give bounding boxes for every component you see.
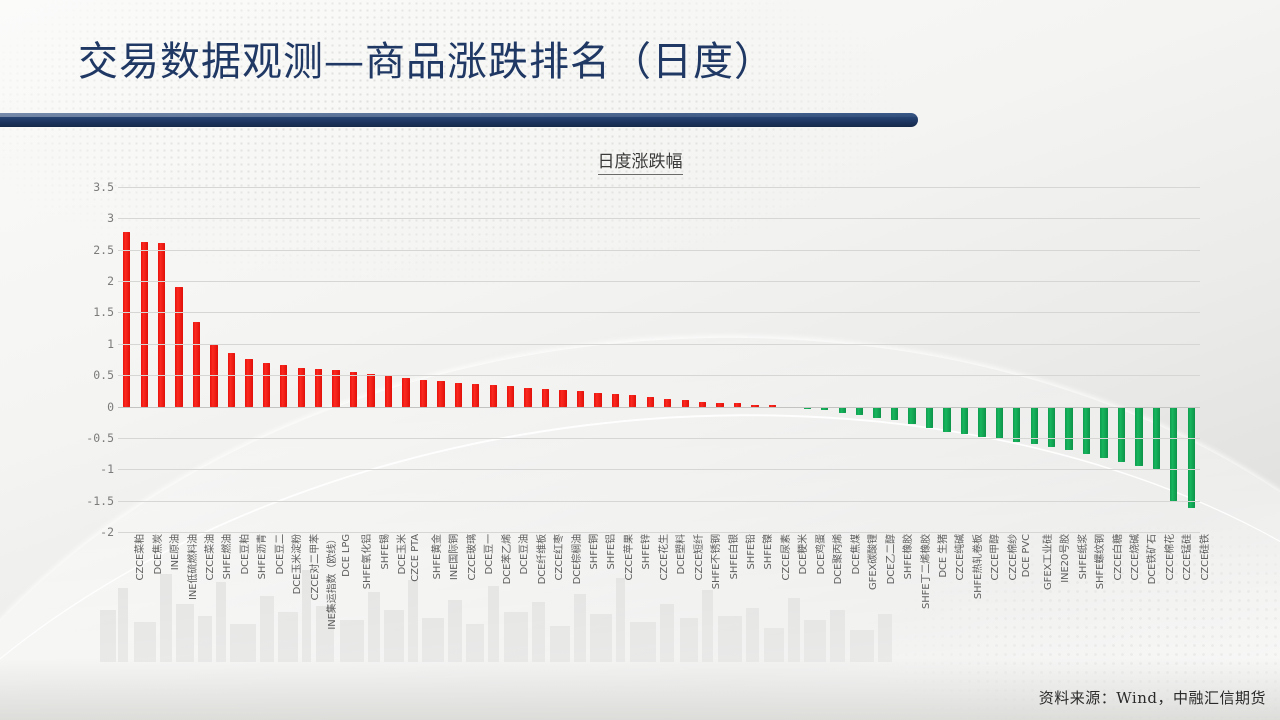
chart-gridline (118, 438, 1200, 439)
source-note: 资料来源：Wind，中融汇信期货 (1039, 687, 1266, 708)
chart-x-tick-label: DCE豆一 (480, 534, 495, 575)
chart-bar (350, 372, 357, 407)
chart-y-tick-label: 0.5 (54, 368, 114, 382)
chart-bar-shadow (439, 383, 446, 408)
chart-bar (263, 363, 270, 407)
chart-bar-shadow (334, 372, 341, 408)
chart-bar (612, 394, 619, 407)
chart-bar-shadow (1033, 409, 1040, 447)
chart-x-tick-label: CZCE硅铁 (1196, 534, 1211, 581)
chart-title-text: 日度涨跌幅 (598, 152, 683, 175)
chart-bar-shadow (457, 385, 464, 409)
chart-x-tick-label: SHFE螺纹钢 (1091, 534, 1106, 589)
chart-y-tick-label: 3.5 (54, 180, 114, 194)
chart-bar-shadow (492, 387, 499, 408)
chart-bar (402, 378, 409, 406)
chart-x-tick-label: DCE苯乙烯 (498, 534, 513, 584)
page-title: 交易数据观测—商品涨跌排名（日度） (78, 42, 775, 82)
chart-bar (437, 381, 444, 406)
chart-x-tick-label: SHFE白银 (725, 534, 740, 579)
chart-x-tick-label: CZCE纯碱 (951, 534, 966, 581)
chart-bar (1135, 407, 1142, 466)
chart-bar-shadow (841, 409, 848, 415)
chart-bar (926, 407, 933, 428)
chart-y-tick-label: 1 (54, 337, 114, 351)
chart-x-axis-labels: CZCE菜粕DCE焦炭INE原油INE低硫燃料油CZCE菜油SHFE燃油DCE豆… (118, 534, 1200, 684)
chart-x-tick-label: SHFE铅 (742, 534, 757, 569)
chart-bar (1100, 407, 1107, 458)
chart-bar-shadow (212, 347, 219, 408)
chart-bar (891, 407, 898, 421)
chart-x-tick-label: DCE粳米 (794, 534, 809, 575)
chart-bar-series (118, 187, 1200, 532)
chart-bar-shadow (404, 380, 411, 408)
chart-x-tick-label: CZCE棉花 (1161, 534, 1176, 581)
chart-bar-shadow (1172, 409, 1179, 503)
chart-x-tick-label: SHFE不锈钢 (707, 534, 722, 589)
chart-bar (420, 380, 427, 406)
chart-bar-shadow (247, 361, 254, 409)
chart-x-tick-label: DCE纤维板 (533, 534, 548, 584)
chart-bar-shadow (1190, 409, 1197, 511)
chart-bar (943, 407, 950, 432)
chart-x-tick-label: CZCE棉纱 (1004, 534, 1019, 581)
chart-bar-shadow (474, 386, 481, 409)
chart-gridline (118, 187, 1200, 188)
chart-bar (542, 389, 549, 407)
chart-bar-shadow (806, 409, 813, 412)
chart-gridline (118, 407, 1200, 408)
chart-y-tick-label: 1.5 (54, 305, 114, 319)
chart-x-tick-label: DCE乙二醇 (882, 534, 897, 584)
chart-bar (1013, 407, 1020, 442)
chart-x-tick-label: DCE豆二 (271, 534, 286, 575)
chart-bar-shadow (1085, 409, 1092, 457)
chart-plot-area: 3.532.521.510.50-0.5-1-1.5-2 (118, 187, 1200, 532)
chart-x-tick-label: CZCE尿素 (777, 534, 792, 581)
chart-x-tick-label: SHFE锡 (376, 534, 391, 569)
chart-bar-shadow (928, 409, 935, 430)
chart-y-tick-label: 2 (54, 274, 114, 288)
chart-bar (123, 232, 130, 407)
chart-x-tick-label: CZCE短纤 (690, 534, 705, 581)
chart-x-tick-label: CZCE花生 (655, 534, 670, 581)
chart-bar (175, 287, 182, 406)
chart-x-tick-label: CZCE苹果 (620, 534, 635, 581)
chart-bar (1048, 407, 1055, 447)
chart-x-tick-label: SHFE铜 (585, 534, 600, 569)
chart-x-tick-label: DCE鸡蛋 (812, 534, 827, 575)
chart-bar-shadow (980, 409, 987, 439)
chart-bar (385, 376, 392, 406)
chart-x-tick-label: DCE豆油 (515, 534, 530, 575)
title-accent-bar-highlight (0, 113, 918, 117)
chart-gridline (118, 218, 1200, 219)
chart-x-tick-label: GFEX碳酸锂 (864, 534, 879, 590)
chart-x-tick-label: DCE棕榈油 (568, 534, 583, 584)
chart-title: 日度涨跌幅 (0, 147, 1280, 172)
chart-bar-shadow (317, 371, 324, 409)
chart-x-tick-label: DCE PVC (1021, 534, 1032, 577)
chart-x-tick-label: DCE铁矿石 (1143, 534, 1158, 584)
chart-x-tick-label: DCE焦炭 (149, 534, 164, 575)
chart-x-tick-label: INE国际铜 (445, 534, 460, 580)
chart-bar-shadow (422, 382, 429, 408)
chart-bar-shadow (1120, 409, 1127, 464)
chart-x-tick-label: SHFE纸浆 (1074, 534, 1089, 579)
chart-x-tick-label: SHFE锌 (637, 534, 652, 569)
chart-bar-shadow (875, 409, 882, 420)
chart-bar-shadow (1067, 409, 1074, 453)
chart-bar (961, 407, 968, 435)
chart-y-tick-label: -1.5 (54, 494, 114, 508)
chart-bar (594, 393, 601, 407)
chart-bar (577, 391, 584, 406)
chart-bar (193, 322, 200, 406)
chart-y-tick-label: 2.5 (54, 243, 114, 257)
chart-bar-shadow (1050, 409, 1057, 449)
slide-header: 交易数据观测—商品涨跌排名（日度） (0, 18, 930, 108)
chart-bar-shadow (125, 234, 132, 409)
chart-x-tick-label: INE集运指数（欧线） (323, 534, 338, 630)
chart-x-tick-label: SHFE热轧卷板 (969, 534, 984, 599)
chart-gridline (118, 281, 1200, 282)
chart-gridline (118, 344, 1200, 345)
chart-bar-shadow (893, 409, 900, 423)
chart-gridline (118, 469, 1200, 470)
chart-bar-shadow (369, 376, 376, 409)
chart-bar (367, 374, 374, 407)
chart-bar-shadow (945, 409, 952, 434)
chart-bar-shadow (998, 409, 1005, 442)
chart-x-tick-label: SHFE氧化铝 (358, 534, 373, 589)
chart-x-tick-label: DCE 生猪 (934, 534, 949, 578)
chart-bar (158, 243, 165, 406)
chart-y-tick-label: 0 (54, 400, 114, 414)
chart-x-tick-label: SHFE黄金 (428, 534, 443, 579)
chart-bar-shadow (195, 324, 202, 408)
chart-bar (873, 407, 880, 418)
chart-gridline (118, 312, 1200, 313)
chart-x-tick-label: CZCE PTA (410, 534, 421, 582)
chart-bar (1083, 407, 1090, 455)
chart-x-tick-label: INE低硫燃料油 (184, 534, 199, 600)
chart-gridline (118, 250, 1200, 251)
chart-bar (245, 359, 252, 407)
chart-bar-shadow (143, 244, 150, 409)
chart-bar-shadow (177, 289, 184, 408)
chart-bar-shadow (823, 409, 830, 413)
chart-bar-shadow (282, 367, 289, 408)
chart-x-tick-label: CZCE锰硅 (1178, 534, 1193, 581)
chart-x-tick-label: CZCE白糖 (1109, 534, 1124, 581)
chart-gridline (118, 501, 1200, 502)
chart-x-tick-label: SHFE沥青 (253, 534, 268, 579)
chart-bar-shadow (352, 374, 359, 409)
chart-x-tick-label: DCE LPG (341, 534, 352, 577)
chart-x-tick-label: CZCE菜油 (201, 534, 216, 581)
chart-y-tick-label: -0.5 (54, 431, 114, 445)
chart-bar-shadow (387, 378, 394, 408)
chart-bar-shadow (160, 245, 167, 408)
chart-bar (228, 353, 235, 407)
chart-bar (664, 399, 671, 407)
chart-gridline (118, 375, 1200, 376)
chart-bar (908, 407, 915, 425)
chart-bar (647, 397, 654, 406)
chart-bar (629, 395, 636, 406)
chart-bar-shadow (684, 402, 691, 408)
chart-bar (280, 365, 287, 406)
chart-bar (490, 385, 497, 406)
chart-y-tick-label: -1 (54, 462, 114, 476)
chart-bar (856, 407, 863, 416)
chart-bar (1065, 407, 1072, 451)
chart-bar-shadow (509, 388, 516, 408)
chart-x-tick-label: DCE聚丙烯 (829, 534, 844, 584)
chart-x-tick-label: SHFE燃油 (218, 534, 233, 579)
chart-bar-shadow (1102, 409, 1109, 460)
chart-x-tick-label: CZCE红枣 (550, 534, 565, 581)
chart-bar (472, 384, 479, 407)
chart-x-tick-label: SHFE镍 (759, 534, 774, 569)
chart-x-tick-label: DCE豆粕 (236, 534, 251, 575)
chart-bar (1188, 407, 1195, 509)
chart-x-tick-label: DCE玉米淀粉 (288, 534, 303, 594)
chart-bar (978, 407, 985, 437)
chart-y-tick-label: 3 (54, 211, 114, 225)
chart-bar (996, 407, 1003, 440)
chart-x-tick-label: CZCE烧碱 (1126, 534, 1141, 581)
chart-x-tick-label: DCE塑料 (672, 534, 687, 575)
chart-bar (141, 242, 148, 407)
chart-x-tick-label: INE原油 (166, 534, 181, 570)
chart-x-tick-label: SHFE丁二烯橡胶 (917, 534, 932, 609)
chart-bar (1170, 407, 1177, 501)
chart-x-tick-label: DCE焦煤 (847, 534, 862, 575)
chart-x-tick-label: CZCE甲醇 (986, 534, 1001, 581)
chart-bar (298, 368, 305, 407)
chart-bar-shadow (858, 409, 865, 418)
chart-x-tick-label: SHFE铝 (602, 534, 617, 569)
chart-bar-shadow (265, 365, 272, 409)
chart-x-tick-label: DCE玉米 (393, 534, 408, 575)
chart-bar (559, 390, 566, 406)
chart-bar (507, 386, 514, 406)
chart-x-tick-label: CZCE菜粕 (131, 534, 146, 581)
chart-x-tick-label: CZCE对二甲苯 (306, 534, 321, 600)
chart-x-tick-label: SHFE橡胶 (899, 534, 914, 579)
chart-bar-shadow (963, 409, 970, 437)
chart-bar-shadow (230, 355, 237, 409)
chart-bar-shadow (910, 409, 917, 427)
chart-x-tick-label: INE20号胶 (1056, 534, 1071, 583)
chart-y-tick-label: -2 (54, 525, 114, 539)
chart-bar (524, 388, 531, 407)
chart-bar-shadow (1155, 409, 1162, 472)
chart-x-tick-label: GFEX工业硅 (1039, 534, 1054, 590)
chart-bar (455, 383, 462, 407)
chart-bar (1118, 407, 1125, 462)
chart-x-tick-label: CZCE玻璃 (463, 534, 478, 581)
chart-container: 日度涨跌幅 3.532.521.510.50-0.5-1-1.5-2 CZCE菜… (0, 120, 1280, 680)
chart-bar-shadow (788, 409, 795, 411)
